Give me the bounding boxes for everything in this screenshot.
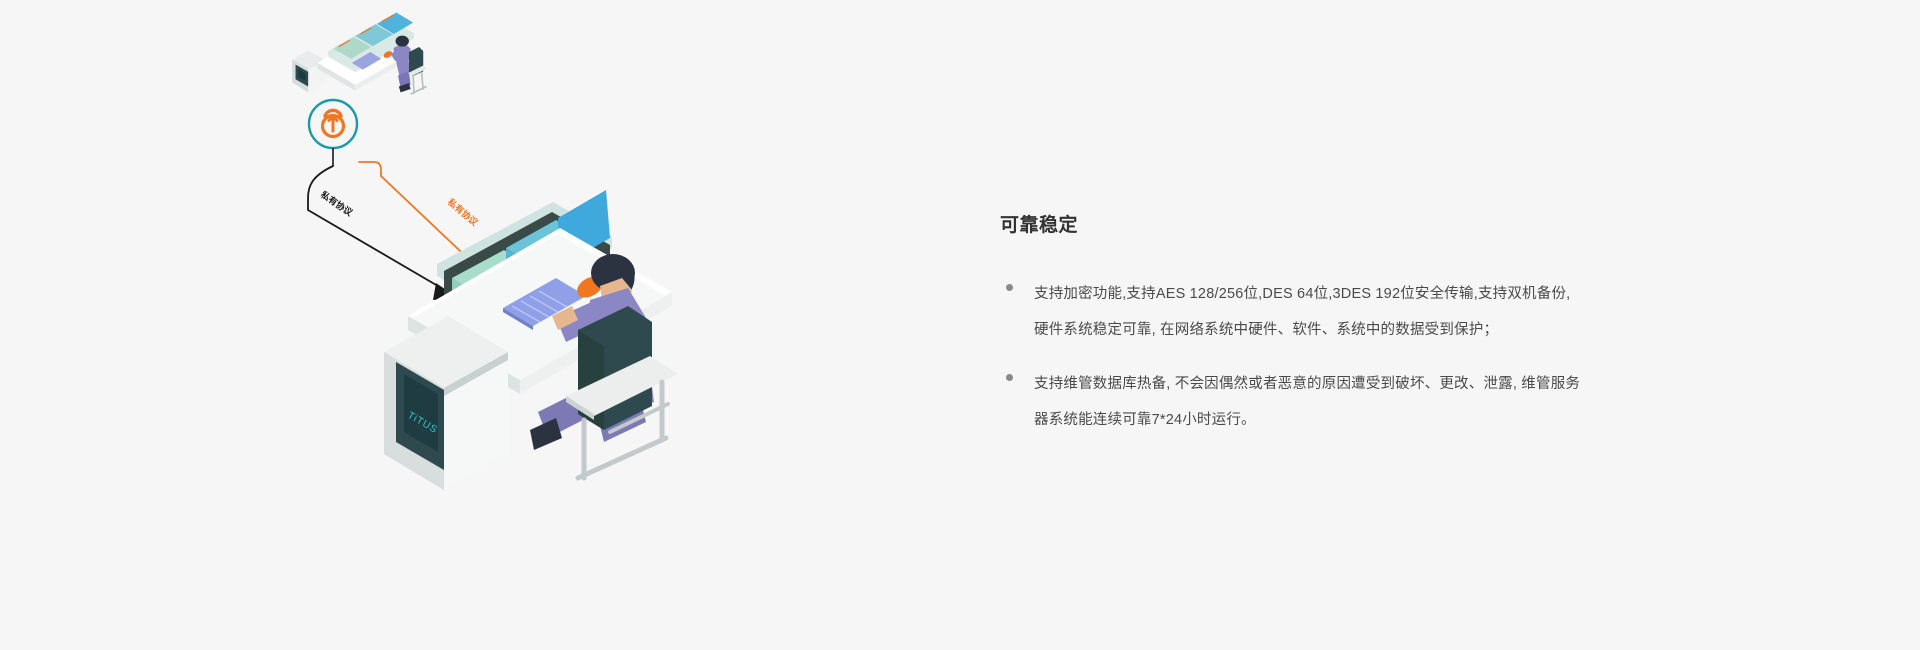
bullet-1-line-1: 支持加密功能,支持AES 128/256位,DES 64位,3DES 192位安… [1034, 276, 1700, 312]
bullet-2-line-1: 支持维管数据库热备, 不会因偶然或者恶意的原因遭受到破坏、更改、泄露, 维管服务 [1034, 366, 1700, 402]
protocol-label-orange-text: 私有协议 [445, 195, 481, 228]
feature-bullet-list: 支持加密功能,支持AES 128/256位,DES 64位,3DES 192位安… [1000, 276, 1700, 438]
bullet-dot-icon [1006, 284, 1013, 291]
main-workstation-graphic: windows MacOS Linux [384, 190, 678, 490]
security-node-graphic [309, 100, 357, 166]
office-chair [566, 306, 678, 478]
illustration-panel: 私有协议 私有协议 [0, 0, 880, 650]
protocol-label-orange: 私有协议 [445, 195, 481, 228]
list-item: 支持加密功能,支持AES 128/256位,DES 64位,3DES 192位安… [1000, 276, 1700, 348]
connection-black-arrow [308, 166, 458, 300]
page-title: 可靠稳定 [1000, 215, 1700, 238]
feature-text-panel: 可靠稳定 支持加密功能,支持AES 128/256位,DES 64位,3DES … [1000, 215, 1700, 456]
bullet-dot-icon [1006, 374, 1013, 381]
bullet-1-line-2: 硬件系统稳定可靠, 在网络系统中硬件、软件、系统中的数据受到保护； [1034, 312, 1700, 348]
list-item: 支持维管数据库热备, 不会因偶然或者恶意的原因遭受到破坏、更改、泄露, 维管服务… [1000, 366, 1700, 438]
server-tower: TiTUS [384, 316, 508, 490]
remote-workstation-graphic [292, 13, 426, 94]
protocol-label-black-text: 私有协议 [318, 188, 356, 218]
protocol-label-black: 私有协议 [318, 188, 356, 218]
bullet-2-line-2: 器系统能连续可靠7*24小时运行。 [1034, 402, 1700, 438]
